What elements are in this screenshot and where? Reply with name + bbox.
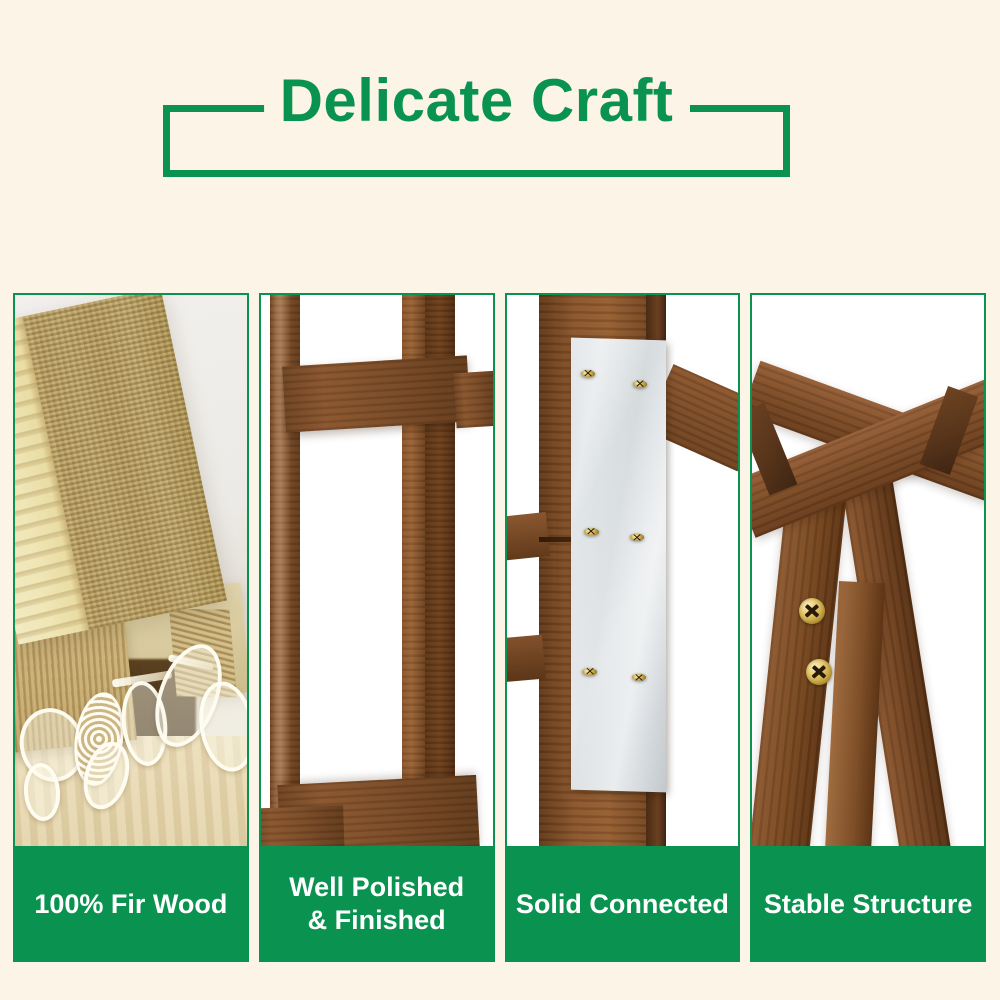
page-title: Delicate Craft	[264, 67, 690, 135]
phillips-screw-icon	[799, 598, 825, 624]
phillips-screw-icon	[581, 370, 595, 378]
feature-panel-grid: 100% Fir Wood Well Polished & Finished	[13, 293, 986, 962]
phillips-screw-icon	[585, 528, 599, 536]
cross-rail	[282, 356, 471, 433]
phillips-screw-icon	[583, 668, 597, 676]
crossed-wooden-legs-joint-photo	[750, 293, 986, 846]
phillips-screw-icon	[806, 659, 832, 685]
title-frame-arm-right	[690, 105, 790, 112]
title-frame-arm-left	[163, 105, 275, 112]
panel-caption: Solid Connected	[505, 846, 741, 962]
polished-walnut-frame-photo	[259, 293, 495, 846]
feature-panel-fir-wood: 100% Fir Wood	[13, 293, 249, 962]
metal-connector-plate-photo	[505, 293, 741, 846]
feature-panel-well-polished: Well Polished & Finished	[259, 293, 495, 962]
metal-connector-plate	[571, 338, 666, 792]
feature-panel-solid-connected: Solid Connected	[505, 293, 741, 962]
title-frame: Delicate Craft	[163, 105, 790, 177]
panel-caption: Stable Structure	[750, 846, 986, 962]
title-frame-side-right	[783, 105, 790, 177]
panel-caption: Well Polished & Finished	[259, 846, 495, 962]
phillips-screw-icon	[633, 380, 647, 388]
panel-caption: 100% Fir Wood	[13, 846, 249, 962]
title-frame-bottom	[163, 170, 790, 177]
title-frame-side-left	[163, 105, 170, 177]
feature-panel-stable-structure: Stable Structure	[750, 293, 986, 962]
raw-fir-wood-blocks-and-shavings-photo	[13, 293, 249, 846]
